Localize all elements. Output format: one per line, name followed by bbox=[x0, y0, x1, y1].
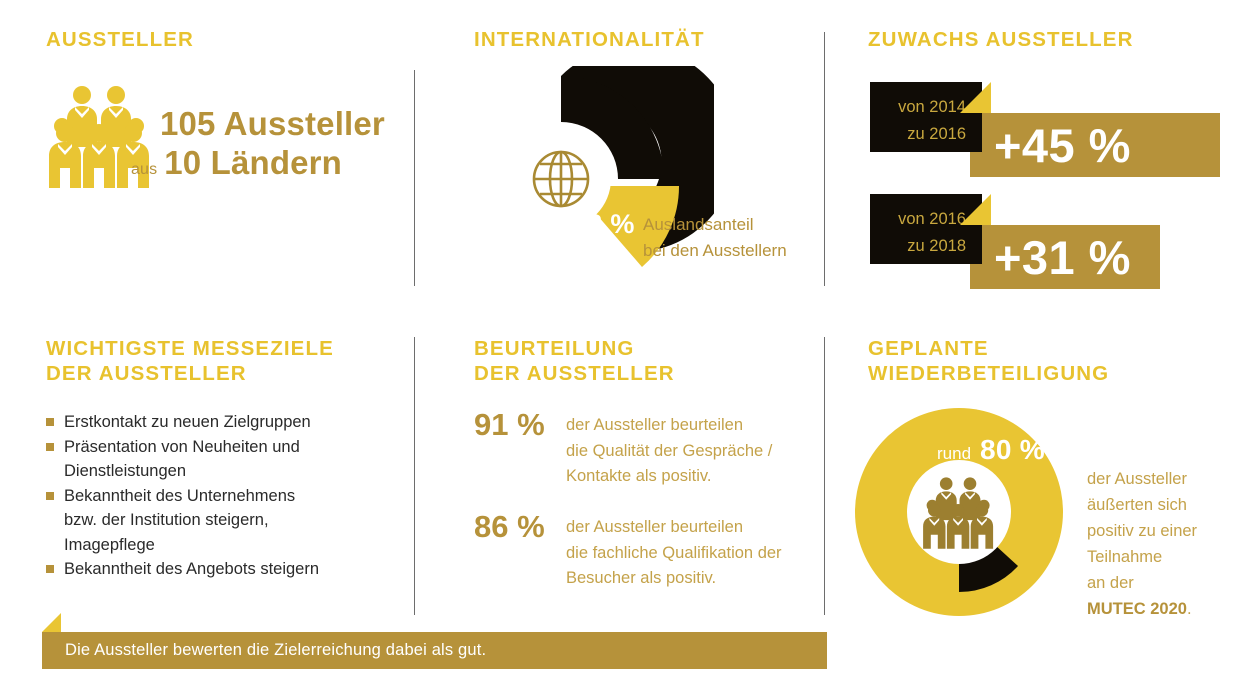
list-item: Präsentation von Neuheiten und Dienstlei… bbox=[46, 435, 386, 484]
rating-item-1: 91 % der Aussteller beurteilen die Quali… bbox=[474, 408, 804, 490]
rating-item-1-value: 91 % bbox=[474, 408, 566, 442]
exhibitor-countries-value: 10 Ländern bbox=[164, 145, 342, 181]
reparticipation-side-text-body: der Aussteller äußerten sich positiv zu … bbox=[1087, 470, 1197, 592]
rating-item-1-text: der Aussteller beurteilen die Qualität d… bbox=[566, 408, 772, 490]
growth-badge-2-from: von 2016 bbox=[898, 210, 966, 228]
growth-badge-1: +45 % von 2014zu 2016 bbox=[870, 82, 1220, 177]
bullet-square-icon bbox=[46, 418, 54, 426]
bullet-square-icon bbox=[46, 443, 54, 451]
growth-badge-2-bar: +31 % bbox=[970, 225, 1160, 289]
divider-vertical-left-bottom bbox=[414, 337, 415, 615]
panel-title-internationality: INTERNATIONALITÄT bbox=[474, 27, 705, 52]
panel-title-reparticipation: GEPLANTE WIEDERBETEILIGUNG bbox=[868, 336, 1109, 386]
bullet-square-icon bbox=[46, 565, 54, 573]
exhibitor-countries-prefix: aus bbox=[131, 161, 157, 179]
summary-banner-fold-icon bbox=[42, 613, 61, 632]
summary-banner: Die Aussteller bewerten die Zielerreichu… bbox=[42, 632, 827, 669]
infographic-canvas: AUSSTELLER bbox=[0, 0, 1240, 698]
reparticipation-event-name: MUTEC 2020 bbox=[1087, 600, 1187, 618]
growth-badge-1-fold-icon bbox=[960, 82, 991, 113]
growth-badge-1-to: zu 2016 bbox=[907, 125, 966, 143]
internationality-percent-label: 23 % bbox=[572, 209, 635, 240]
goal-text: Bekanntheit des Angebots steigern bbox=[64, 557, 319, 582]
goal-text: Erstkontakt zu neuen Zielgruppen bbox=[64, 410, 311, 435]
summary-banner-text: Die Aussteller bewerten die Zielerreichu… bbox=[42, 641, 486, 660]
growth-badge-2-value: +31 % bbox=[994, 230, 1131, 285]
goal-text: Präsentation von Neuheiten und Dienstlei… bbox=[64, 435, 300, 484]
bullet-square-icon bbox=[46, 492, 54, 500]
growth-badge-2: +31 % von 2016zu 2018 bbox=[870, 194, 1160, 289]
growth-badge-1-from: von 2014 bbox=[898, 98, 966, 116]
internationality-caption: Auslandsanteil bei den Ausstellern bbox=[643, 212, 787, 264]
panel-title-growth: ZUWACHS AUSSTELLER bbox=[868, 27, 1134, 52]
divider-vertical-right-bottom bbox=[824, 337, 825, 615]
reparticipation-prefix: rund bbox=[937, 444, 971, 464]
list-item: Bekanntheit des Unternehmens bzw. der In… bbox=[46, 484, 386, 558]
panel-title-exhibitors: AUSSTELLER bbox=[46, 27, 194, 52]
rating-item-2-text: der Aussteller beurteilen die fachliche … bbox=[566, 510, 782, 592]
growth-badge-1-bar: +45 % bbox=[970, 113, 1220, 177]
reparticipation-percent: 80 % bbox=[980, 434, 1045, 466]
panel-title-goals: WICHTIGSTE MESSEZIELE DER AUSSTELLER bbox=[46, 336, 334, 386]
reparticipation-period: . bbox=[1187, 600, 1192, 618]
reparticipation-side-text: der Aussteller äußerten sich positiv zu … bbox=[1087, 440, 1237, 648]
exhibitor-countries-line: aus 10 Ländern bbox=[131, 145, 342, 181]
goals-list: Erstkontakt zu neuen Zielgruppen Präsent… bbox=[46, 410, 386, 582]
panel-title-rating: BEURTEILUNG DER AUSSTELLER bbox=[474, 336, 675, 386]
divider-vertical-left-top bbox=[414, 70, 415, 286]
exhibitor-count-line: 105 Aussteller bbox=[160, 106, 385, 142]
growth-badge-2-to: zu 2018 bbox=[907, 237, 966, 255]
goal-text: Bekanntheit des Unternehmens bzw. der In… bbox=[64, 484, 295, 558]
growth-badge-1-value: +45 % bbox=[994, 118, 1131, 173]
rating-item-2-value: 86 % bbox=[474, 510, 566, 544]
list-item: Erstkontakt zu neuen Zielgruppen bbox=[46, 410, 386, 435]
list-item: Bekanntheit des Angebots steigern bbox=[46, 557, 386, 582]
growth-badge-2-fold-icon bbox=[960, 194, 991, 225]
reparticipation-center-label: rund 80 % bbox=[937, 434, 1045, 466]
rating-item-2: 86 % der Aussteller beurteilen die fachl… bbox=[474, 510, 804, 592]
divider-vertical-right-top bbox=[824, 32, 825, 286]
